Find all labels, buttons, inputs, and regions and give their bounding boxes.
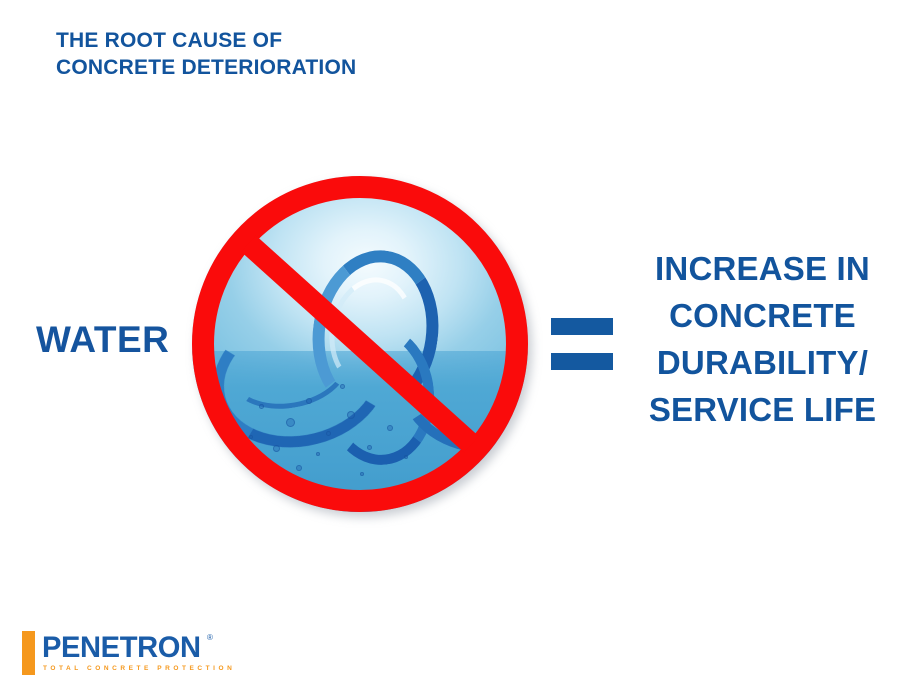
no-water-prohibition-sign	[192, 176, 528, 512]
result-line-3: DURABILITY/	[620, 339, 905, 386]
slide-canvas: THE ROOT CAUSE OF CONCRETE DETERIORATION…	[0, 0, 920, 690]
page-title-line-2: CONCRETE DETERIORATION	[56, 54, 576, 81]
page-title-line-1: THE ROOT CAUSE OF	[56, 27, 576, 54]
logo-orange-bar	[22, 631, 35, 675]
logo-registered-mark: ®	[207, 633, 213, 642]
logo-wordmark: PENETRON	[42, 632, 201, 664]
logo-tagline: TOTAL CONCRETE PROTECTION	[43, 665, 235, 672]
penetron-logo: PENETRON ® TOTAL CONCRETE PROTECTION	[22, 631, 222, 675]
equals-bar-top	[551, 318, 613, 335]
equation-result-term: INCREASE IN CONCRETE DURABILITY/ SERVICE…	[620, 245, 905, 433]
result-line-1: INCREASE IN	[620, 245, 905, 292]
equals-bar-bottom	[551, 353, 613, 370]
result-line-4: SERVICE LIFE	[620, 386, 905, 433]
equation-left-term: WATER	[36, 318, 169, 362]
result-line-2: CONCRETE	[620, 292, 905, 339]
equals-sign	[551, 318, 613, 370]
page-title: THE ROOT CAUSE OF CONCRETE DETERIORATION	[56, 27, 576, 81]
